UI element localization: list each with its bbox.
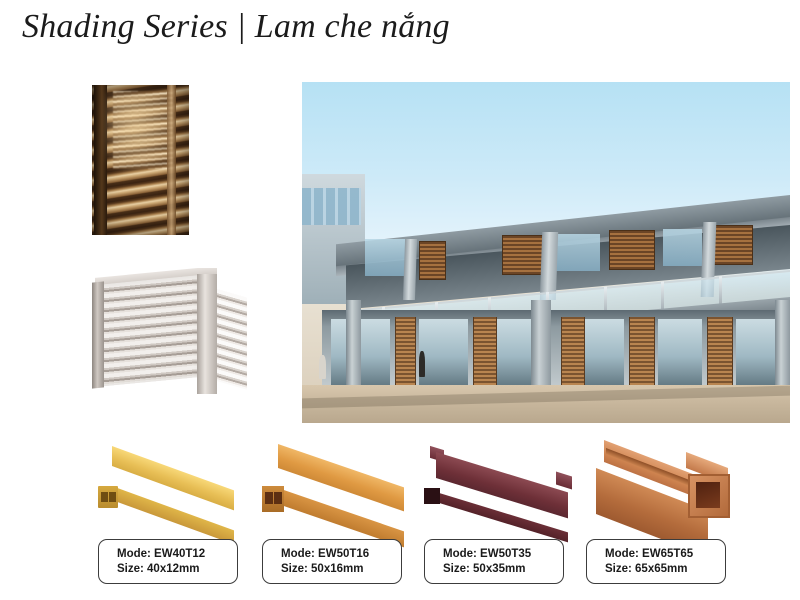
upper-shutter-1	[419, 241, 445, 281]
ground-column-3	[775, 300, 790, 395]
upper-shutter-3	[609, 230, 655, 270]
product-ew65t65-image	[586, 430, 756, 538]
upper-window-glazing-3	[663, 229, 702, 267]
storefront-glazing-1	[331, 319, 390, 387]
profile-chamber-1	[265, 492, 273, 504]
profile-chamber-2	[274, 492, 282, 504]
storefront-glazing-5	[658, 319, 702, 387]
pedestrian-2	[319, 355, 326, 379]
upper-shutter-2	[502, 235, 543, 275]
vertical-louvre-panel-3	[561, 317, 585, 387]
spec-size: Size: 40x12mm	[117, 562, 237, 577]
spec-size: Size: 50x35mm	[443, 562, 563, 577]
spec-size: Size: 65x65mm	[605, 562, 725, 577]
storefront-glazing-2	[419, 319, 468, 387]
louvre-sunlight-glow	[106, 94, 178, 181]
ground-column-1	[346, 300, 361, 395]
product-ew50t16-image	[262, 430, 432, 538]
vertical-louvre-panel-5	[707, 317, 733, 387]
storefront-glazing-6	[736, 319, 780, 387]
upper-shutter-4	[712, 225, 753, 265]
building-facade-photo	[302, 82, 790, 423]
louvre-box-side-slats	[214, 288, 247, 391]
vertical-louvre-panel-2	[473, 317, 497, 387]
profile-chamber-1	[696, 482, 720, 508]
spec-label-ew50t35: Mode: EW50T35 Size: 50x35mm	[424, 539, 564, 584]
interior-wooden-louvre-photo	[92, 85, 189, 235]
pedestrian-1	[419, 351, 425, 377]
profile-end-section	[424, 488, 440, 504]
slide-page: Shading Series | Lam che nắng	[0, 0, 800, 600]
aluminium-louvre-box-photo	[92, 268, 247, 396]
product-ew40t12-image	[98, 430, 268, 538]
profile-top-face	[436, 452, 568, 518]
product-ew50t35-image	[424, 430, 594, 538]
spec-label-ew50t16: Mode: EW50T16 Size: 50x16mm	[262, 539, 402, 584]
page-title: Shading Series | Lam che nắng	[22, 8, 450, 46]
profile-chamber-2	[109, 492, 116, 502]
spec-mode: Mode: EW50T35	[443, 547, 563, 562]
spec-size: Size: 50x16mm	[281, 562, 401, 577]
louvre-box-post-corner	[197, 274, 217, 394]
spec-label-ew40t12: Mode: EW40T12 Size: 40x12mm	[98, 539, 238, 584]
upper-window-glazing-2	[556, 234, 600, 272]
vertical-louvre-panel-1	[395, 317, 417, 387]
storefront-glazing-4	[585, 319, 624, 387]
louvre-box-front-slats	[95, 275, 201, 387]
spec-label-ew65t65: Mode: EW65T65 Size: 65x65mm	[586, 539, 726, 584]
vertical-louvre-panel-4	[629, 317, 655, 387]
spec-mode: Mode: EW50T16	[281, 547, 401, 562]
spec-mode: Mode: EW65T65	[605, 547, 725, 562]
ground-column-2	[531, 300, 551, 395]
louvre-box-post-left	[92, 281, 104, 388]
profile-chamber-1	[101, 492, 108, 502]
adjacent-building-glazing	[302, 188, 361, 226]
balcony-column-2	[540, 232, 558, 300]
spec-mode: Mode: EW40T12	[117, 547, 237, 562]
profile-lip-right	[556, 472, 572, 490]
